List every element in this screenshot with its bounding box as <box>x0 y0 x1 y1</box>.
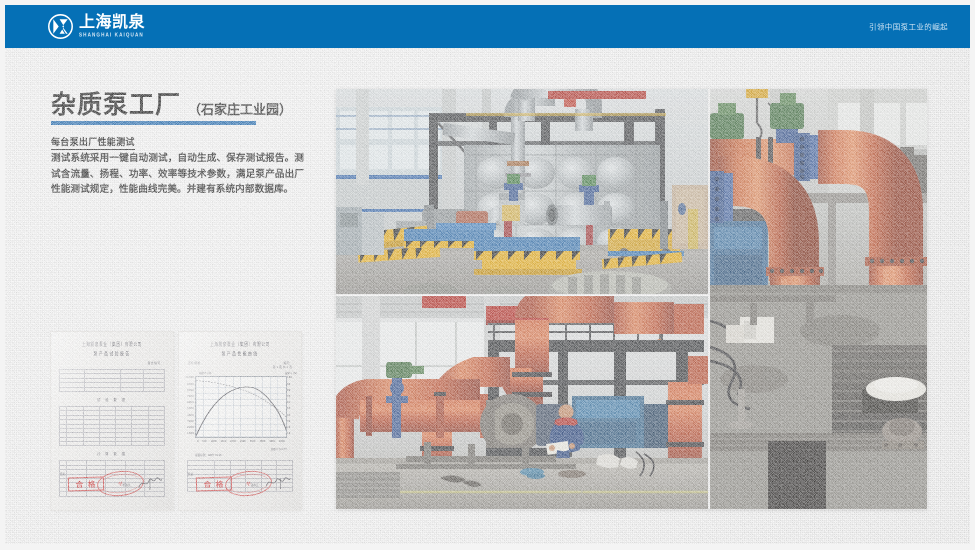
doc-title-line: 泵产品试验报告 <box>61 350 163 358</box>
pump-assembly-illustration <box>336 296 708 509</box>
doc-table-caption-1: 试 验 数 据 <box>51 397 173 402</box>
curve-x-axis-label: 流量 Q (m³/h) <box>179 447 287 451</box>
curve-doc-title-line: 泵产品性能曲线 <box>189 350 291 358</box>
curve-doc-company-line: 上海凯泉泵业（集团）有限公司 <box>189 342 291 349</box>
document-heading: 上海凯泉泵业（集团）有限公司 泵产品试验报告 <box>61 343 163 357</box>
curve-plot-lines <box>196 377 286 437</box>
photo-collage <box>336 89 927 509</box>
curve-doc-conclusion-label: 结论 <box>188 472 193 476</box>
document-thumbnails: 上海凯泉泵业（集团）有限公司 泵产品试验报告 报告编号： 试 验 数 据 <box>51 332 306 510</box>
pump-test-bay-with-stainless-water-tanks[interactable] <box>336 89 708 294</box>
curve-y-axis-right-ticks: 100908070605040302010 <box>287 375 299 437</box>
curve-x-axis-ticks: 0500100015002000 25003000350040004500 <box>196 440 286 443</box>
doc-conclusion-label: 结论 <box>60 472 65 476</box>
doc-report-number: 报告编号： <box>51 361 164 365</box>
curve-handwritten-signature-icon <box>265 474 291 492</box>
brand-logo[interactable]: 上海凯泉 SHANGHAI KAIQUAN <box>47 12 145 42</box>
curve-right-axis-label: 效率 η (%) <box>285 371 297 375</box>
section-lead-heading: 每台泵出厂性能测试 <box>51 135 135 150</box>
header-tagline: 引领中国泵工业的崛起 <box>869 21 948 32</box>
slide-canvas: 上海凯泉 SHANGHAI KAIQUAN 引领中国泵工业的崛起 杂质泵工厂 （… <box>0 0 975 550</box>
doc-table-caption-2: 计 算 数 据 <box>51 451 173 456</box>
test-bay-illustration <box>336 89 708 294</box>
brand-name-en: SHANGHAI KAIQUAN <box>79 33 145 38</box>
curve-doc-heading: 上海凯泉泵业（集团）有限公司 泵产品性能曲线 <box>189 343 291 357</box>
curve-doc-model: 型号/规格： <box>188 361 203 369</box>
page-title-main: 杂质泵工厂 <box>51 93 181 118</box>
curve-y-axis-left-ticks: 1000090008000700060005000400030002000100… <box>182 375 194 437</box>
doc-info-table <box>59 369 165 392</box>
doc-company-line: 上海凯泉泵业（集团）有限公司 <box>61 342 163 349</box>
handwritten-signature-icon <box>137 474 163 492</box>
curve-doc-pagination: 第 1 页 共 1 页 <box>273 365 292 369</box>
large-orange-elbow-pipes-into-floor-pit[interactable] <box>710 89 927 509</box>
page-title: 杂质泵工厂 （石家庄工业园） <box>51 93 292 118</box>
title-underline-rule <box>51 121 256 125</box>
doc-inspector-note: 检验员： <box>123 483 133 487</box>
test-report-table-document[interactable]: 上海凯泉泵业（集团）有限公司 泵产品试验报告 报告编号： 试 验 数 据 <box>51 332 173 510</box>
curve-left-axis-label: 扬程 H (m) <box>199 371 211 375</box>
orange-elbow-pipes-illustration <box>710 89 927 509</box>
doc-stamp-row: 结论 合 格 检验员： <box>51 462 173 496</box>
doc-data-table <box>59 406 165 447</box>
pump-performance-curve-chart: 1000090008000700060005000400030002000100… <box>195 376 287 438</box>
curve-note: 试验标准：GB/T 3216 <box>195 453 285 457</box>
page-title-location: （石家庄工业园） <box>188 103 292 118</box>
section-body-text: 测试系统采用一键自动测试，自动生成、保存测试报告。测试含流量、扬程、功率、效率等… <box>51 151 304 198</box>
pump-assembly-with-orange-piping-and-worker[interactable] <box>336 296 708 509</box>
curve-doc-tester-note: 试验员： <box>251 483 261 487</box>
photo-collage-left-column <box>336 89 708 509</box>
brand-name-cn: 上海凯泉 <box>79 15 145 31</box>
performance-curve-document[interactable]: 上海凯泉泵业（集团）有限公司 泵产品性能曲线 型号/规格： 编号： 第 1 页 … <box>179 332 301 510</box>
page-header: 上海凯泉 SHANGHAI KAIQUAN 引领中国泵工业的崛起 <box>5 5 970 48</box>
curve-doc-stamp-row: 结论 合 格 试验员： <box>179 462 301 496</box>
kaiquan-circle-k-logo-icon <box>47 13 74 40</box>
